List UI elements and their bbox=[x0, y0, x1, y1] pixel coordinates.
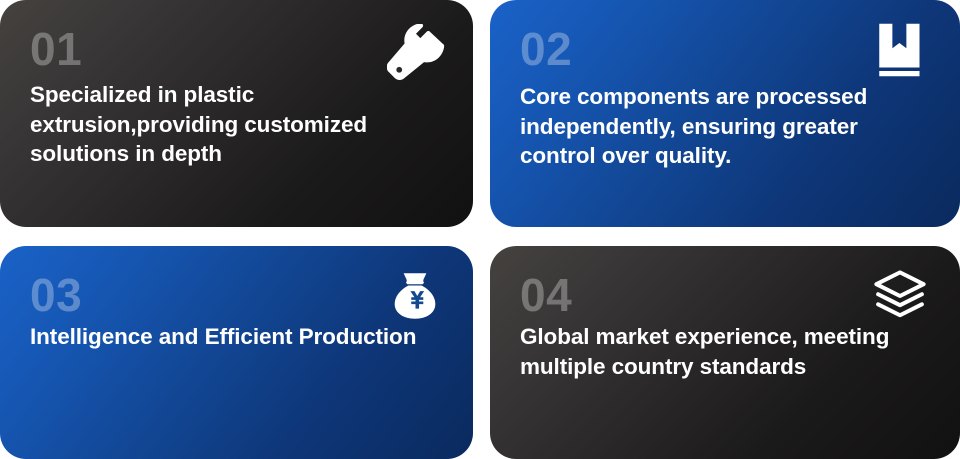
card-text-04: Global market experience, meeting multip… bbox=[520, 322, 930, 381]
card-text-01: Specialized in plastic extrusion,providi… bbox=[30, 80, 443, 169]
card-number-03: 03 bbox=[30, 272, 443, 318]
card-text-03: Intelligence and Efficient Production bbox=[30, 322, 443, 352]
card-number-04: 04 bbox=[520, 272, 930, 318]
card-number-02: 02 bbox=[520, 26, 930, 72]
feature-card-01[interactable]: 01 Specialized in plastic extrusion,prov… bbox=[0, 0, 473, 227]
feature-cards-grid: 01 Specialized in plastic extrusion,prov… bbox=[0, 0, 960, 459]
card-text-02: Core components are processed independen… bbox=[520, 82, 930, 171]
feature-card-02[interactable]: 02 Core components are processed indepen… bbox=[490, 0, 960, 227]
card-number-01: 01 bbox=[30, 26, 443, 72]
feature-card-03[interactable]: 03 Intelligence and Efficient Production bbox=[0, 246, 473, 459]
feature-card-04[interactable]: 04 Global market experience, meeting mul… bbox=[490, 246, 960, 459]
